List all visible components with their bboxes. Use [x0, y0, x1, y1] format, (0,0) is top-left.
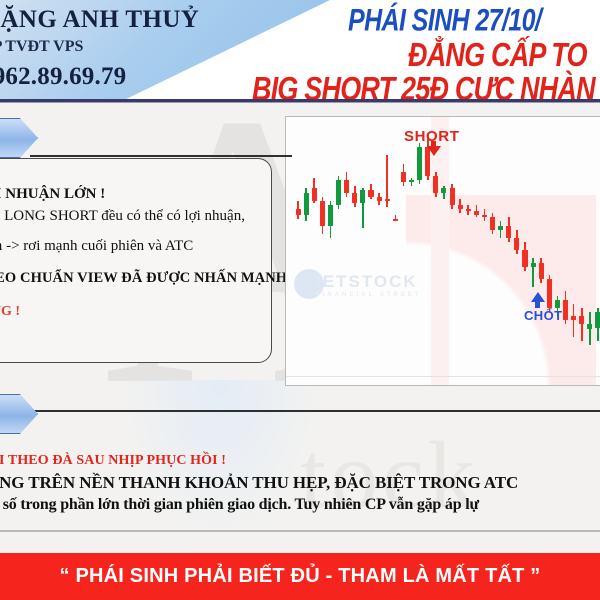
footer-banner: “ PHÁI SINH PHẢI BIẾT ĐỦ - THAM LÀ MẤT T…	[0, 553, 600, 600]
chart-baseline	[286, 376, 600, 377]
candle	[514, 230, 519, 255]
candle-body	[409, 180, 414, 182]
broker-title: TP TVĐT VPS	[0, 38, 242, 56]
chart-plot-area: IETSTOCK FINANCIAL STREET	[286, 117, 600, 385]
header-divider-thin	[0, 102, 600, 103]
panel-line-1: ỢI NHUẬN LỚN !	[0, 186, 105, 203]
candle	[377, 193, 382, 205]
candle	[304, 188, 309, 221]
section-rule-bottom	[30, 410, 600, 412]
candle-body	[474, 211, 479, 215]
panel-line-2: iều LONG SHORT đều có thể có lợi nhuận,	[0, 208, 245, 225]
chot-arrow-stem-icon	[535, 301, 540, 308]
candle	[417, 143, 422, 184]
candle-wick	[573, 304, 575, 337]
candle	[393, 215, 398, 221]
candle-body	[571, 316, 576, 320]
candle-body	[498, 226, 503, 230]
candle	[296, 201, 301, 220]
candle	[312, 178, 317, 203]
candle-body	[587, 324, 592, 328]
candle-body	[579, 316, 584, 324]
candle-body	[595, 312, 600, 328]
candle-body	[522, 250, 527, 266]
candle-wick	[581, 308, 583, 341]
candle	[458, 199, 463, 213]
candle	[409, 178, 414, 186]
candle	[385, 155, 390, 207]
chart-watermark-text: IETSTOCK	[316, 272, 418, 291]
candle-body	[377, 197, 382, 201]
candle	[539, 258, 544, 283]
candle-body	[368, 190, 373, 196]
candle-body	[320, 201, 325, 226]
candle	[466, 205, 471, 215]
footer-spacer	[0, 532, 600, 553]
candle	[579, 308, 584, 341]
candle	[498, 221, 503, 237]
candle	[328, 201, 333, 238]
candle	[474, 205, 479, 217]
panel-line-4: THEO CHUẨN VIEW ĐÃ ĐƯỢC NHẤN MẠNH !	[0, 270, 296, 287]
chart-pink-band-overlay	[431, 117, 449, 385]
candle-body	[539, 263, 544, 279]
candle	[352, 186, 357, 207]
candle-body	[296, 209, 301, 215]
candle-body	[312, 188, 317, 200]
panel-line-3: ếm -> rơi mạnh cuối phiên và ATC	[0, 238, 193, 255]
candle-body	[360, 190, 365, 202]
candle-body	[555, 300, 560, 308]
candle	[450, 184, 455, 209]
section-arrow-marker-top	[0, 118, 38, 158]
candle	[360, 188, 365, 227]
broker-phone: 0962.89.69.79	[0, 63, 260, 91]
chart-watermark: IETSTOCK FINANCIAL STREET	[316, 272, 496, 302]
candle-body	[417, 147, 422, 180]
candle-wick	[500, 221, 502, 237]
candle-body	[336, 180, 341, 205]
bottom-line-2: ỘNG TRÊN NỀN THANH KHOẢN THU HẸP, ĐẶC BI…	[0, 473, 518, 493]
footer-slogan: “ PHÁI SINH PHẢI BIẾT ĐỦ - THAM LÀ MẤT T…	[60, 565, 541, 588]
candle	[595, 308, 600, 341]
candle	[441, 186, 446, 198]
short-arrow-down-icon	[427, 146, 441, 156]
candlestick-chart: IETSTOCK FINANCIAL STREET	[285, 116, 600, 386]
candle	[482, 209, 487, 221]
candle	[571, 304, 576, 337]
candle-body	[547, 279, 552, 308]
candle	[320, 197, 325, 234]
candle	[506, 217, 511, 242]
candle	[490, 213, 495, 234]
candle-body	[450, 188, 455, 204]
candle-wick	[589, 312, 591, 345]
header-headline-2: ĐẲNG CẤP TO	[408, 36, 587, 75]
broker-name: ĐẶNG ANH THUỶ	[0, 6, 242, 34]
panel-line-5: ỜNG !	[0, 304, 20, 320]
candle-body	[563, 300, 568, 321]
candle-body	[458, 205, 463, 209]
candle	[433, 172, 438, 197]
candle-body	[304, 193, 309, 216]
candle	[401, 164, 406, 187]
candle	[368, 184, 373, 198]
candle	[344, 172, 349, 197]
candle	[522, 242, 527, 271]
candle	[547, 275, 552, 312]
candle-body	[506, 226, 511, 238]
candle-body	[466, 209, 471, 211]
candle-body	[328, 205, 333, 226]
candle-body	[352, 193, 357, 203]
poster-root: A tock ĐẶNG ANH THUỶ TP TVĐT VPS 0962.89…	[0, 0, 600, 600]
candle-body	[490, 217, 495, 229]
candle-body	[433, 176, 438, 192]
candle	[531, 258, 536, 287]
section-rule-top	[30, 155, 292, 157]
candle-body	[401, 172, 406, 182]
bottom-line-1: ỐI THEO ĐÀ SAU NHỊP PHỤC HỒI !	[0, 453, 226, 469]
candle-body	[441, 188, 446, 192]
chart-watermark-subtext: FINANCIAL STREET	[316, 292, 496, 298]
candle-body	[482, 215, 487, 217]
candle-body	[514, 238, 519, 250]
candle	[336, 176, 341, 209]
bottom-line-3: hỉ số trong phần lớn thời gian phiên gia…	[0, 496, 479, 514]
candle	[563, 291, 568, 324]
section-arrow-marker-bottom	[0, 394, 38, 434]
chart-label-chot: CHỐT	[524, 308, 562, 323]
header-headline-1: PHÁI SINH 27/10/	[348, 3, 541, 39]
header: ĐẶNG ANH THUỶ TP TVĐT VPS 0962.89.69.79 …	[0, 0, 600, 103]
candle-body	[385, 199, 390, 201]
candle-body	[531, 263, 536, 267]
candle	[587, 312, 592, 345]
candle-body	[344, 180, 349, 192]
